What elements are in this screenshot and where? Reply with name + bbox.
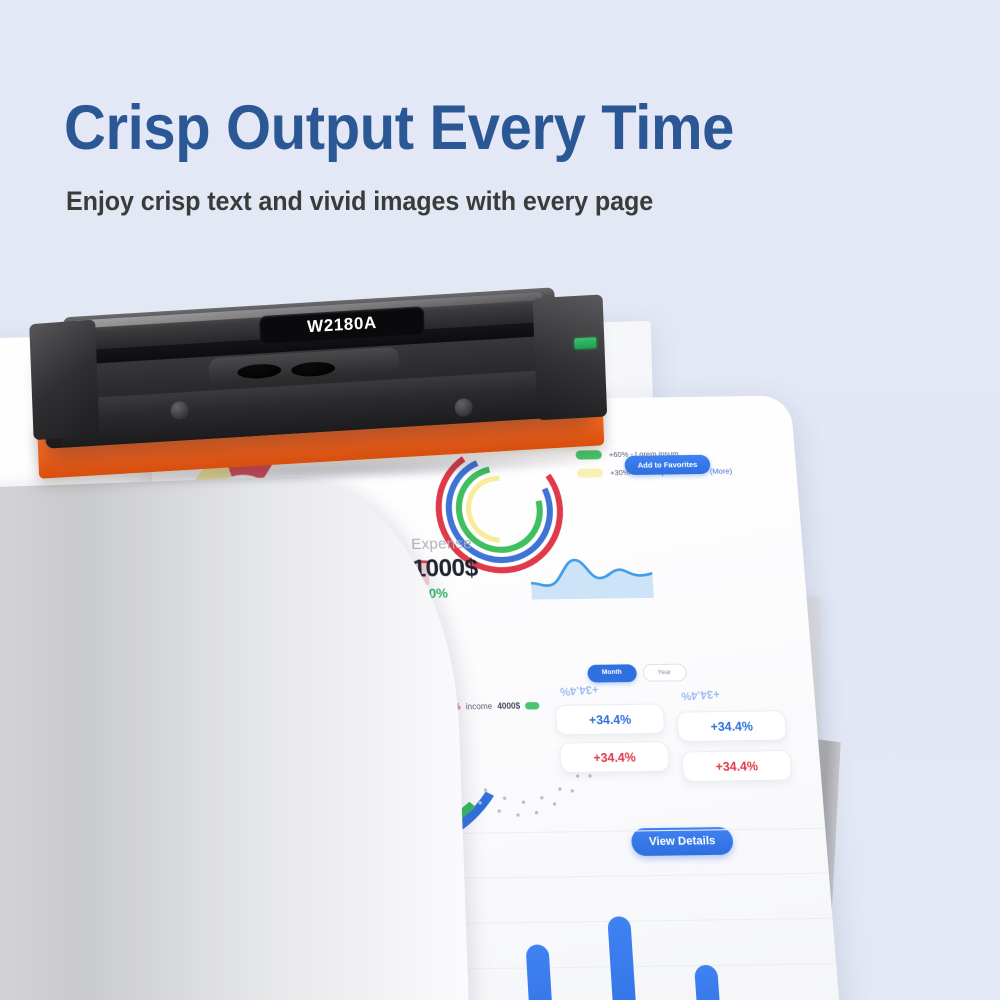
cartridge-end-right bbox=[533, 294, 608, 420]
stat-card[interactable]: +34.4% bbox=[555, 703, 666, 735]
legend-more-link[interactable]: (More) bbox=[710, 467, 733, 476]
page-subtitle: Enjoy crisp text and vivid images with e… bbox=[66, 186, 903, 217]
gauge-legend-text: income bbox=[466, 702, 493, 712]
cartridge-end-left bbox=[29, 319, 99, 440]
period-toggle[interactable]: Month Year bbox=[587, 664, 687, 683]
stat-card[interactable]: +34.4% bbox=[676, 710, 787, 742]
stat-card-grid: +34.4% +34.4% +34.4% +34.4% +34.4% +34.4… bbox=[555, 702, 791, 705]
bar[interactable] bbox=[607, 916, 639, 1000]
gauge-legend-amount: 4000$ bbox=[497, 701, 520, 711]
stat-card-ghost: +34.4% bbox=[559, 682, 599, 697]
paper-curl bbox=[0, 471, 470, 1000]
toner-cartridge: W2180A bbox=[27, 285, 614, 497]
bar[interactable] bbox=[694, 965, 724, 1000]
toggle-month[interactable]: Month bbox=[587, 664, 637, 682]
gauge-legend-chip-green bbox=[525, 702, 540, 710]
add-to-favorites-button[interactable]: Add to Favorites bbox=[624, 455, 711, 475]
product-banner: Crisp Output Every Time Enjoy crisp text… bbox=[0, 0, 1000, 1000]
cartridge-model-text: W2180A bbox=[307, 313, 377, 337]
cartridge-chip-icon bbox=[574, 337, 596, 349]
kpi-label: Expense bbox=[411, 535, 477, 553]
stat-card[interactable]: +34.4% bbox=[559, 741, 670, 773]
bar[interactable] bbox=[526, 944, 556, 1000]
stat-card-ghost: +34.4% bbox=[681, 687, 721, 702]
stat-card[interactable]: +34.4% bbox=[681, 750, 792, 782]
toggle-year[interactable]: Year bbox=[642, 664, 687, 682]
page-title: Crisp Output Every Time bbox=[64, 96, 855, 160]
sparkline-expense bbox=[529, 551, 654, 600]
